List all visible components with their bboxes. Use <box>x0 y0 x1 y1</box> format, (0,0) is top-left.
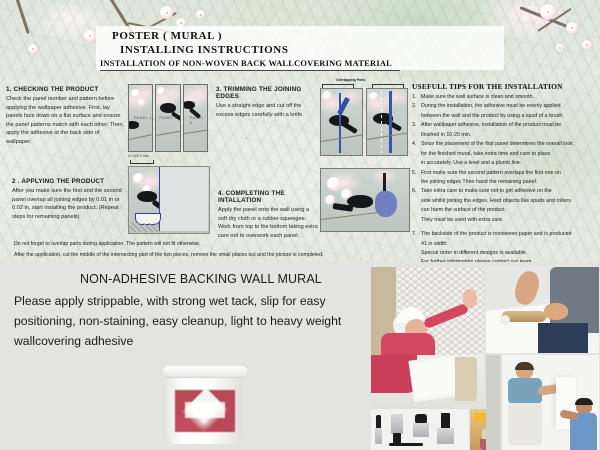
tip-item-cont: Special order in different designs is av… <box>412 250 598 258</box>
instruction-sheet: POSTER ( MURAL ) INSTALLING INSTRUCTIONS… <box>0 0 600 450</box>
photo-woman-applying <box>371 267 484 362</box>
overlap-callout: Overlapping Parts <box>320 78 408 88</box>
tip-item: 7.The backside of the product is nonwove… <box>412 231 598 239</box>
step-4-heading: 4. COMPLETING THE INTALLATION <box>218 190 318 204</box>
tip-item-cont: in accurately. Use a level and a plumb l… <box>412 160 598 168</box>
tip-item-cont: finished in 10-20 min. <box>412 132 598 140</box>
note-trimming: After the application, cut the middle of… <box>14 252 323 258</box>
overlap-measurement: 0.1 in/0.2 mm <box>128 155 208 164</box>
photo-tools <box>371 409 469 450</box>
tip-item-cont: between the wall and the product by usin… <box>412 113 598 121</box>
photo-wallpaper-roll <box>371 355 484 413</box>
overlap-diagram <box>128 166 210 234</box>
overlap-label: Overlapping Parts <box>336 78 365 82</box>
step-3-body: Use a straight edge and cut off the exce… <box>216 102 316 119</box>
tip-item: 5.First make sure the second pattern ove… <box>412 170 598 178</box>
adhesive-bucket-image <box>163 366 247 444</box>
photo-man-and-boy <box>486 355 599 450</box>
tip-item-cont: They must be used with extra care. <box>412 217 598 225</box>
panel-row-diagram: PANEL 1 PANEL 2 PANEL 3 <box>128 84 208 152</box>
trimming-photos <box>320 88 408 156</box>
measurement-label: 0.1 in/0.2 mm <box>128 154 149 158</box>
step-1: 1. CHECKING THE PRODUCT Check the panel … <box>6 86 126 146</box>
photo-roller-paste <box>486 267 599 353</box>
tip-item: 6.Take extra care to make sure not to ge… <box>412 188 598 196</box>
panel-2: PANEL 2 <box>155 84 180 152</box>
step-2-heading: 2 . APPLYING THE PRODUCT <box>12 178 130 185</box>
page-title: POSTER ( MURAL ) <box>112 30 222 42</box>
page-subtitle: INSTALLING INSTRUCTIONS <box>120 44 289 56</box>
trim-photo-knife <box>320 88 363 156</box>
tip-item-cont: the joining edges Then hand the remainin… <box>412 179 598 187</box>
tip-item: 3.After wallpaper adhesive, installation… <box>412 122 598 130</box>
note-overlap: Do not forget to overlap parts during ap… <box>14 241 200 247</box>
panel-2-label: PANEL 2 <box>159 115 177 120</box>
tip-item-cont: can harm the surface of the product. <box>412 207 598 215</box>
trim-photo-straightedge <box>366 88 409 156</box>
step-2: 2 . APPLYING THE PRODUCT After you make … <box>12 178 130 221</box>
tip-item: 4.Since the placement of the first panel… <box>412 141 598 149</box>
panel-1-label: PANEL 1 <box>134 115 152 120</box>
step-1-heading: 1. CHECKING THE PRODUCT <box>6 86 126 93</box>
measurement-bracket <box>130 160 154 164</box>
tip-item-cont: side whilst joining the edges. Hard obje… <box>412 198 598 206</box>
step-3-heading: 3. TRIMMING THE JOINING EDGES <box>216 86 316 100</box>
promo-title: NON-ADHESIVE BACKING WALL MURAL <box>80 272 322 286</box>
step-4: 4. COMPLETING THE INTALLATION Apply the … <box>218 190 318 240</box>
step-4-body: Apply the panel onto the wall using a so… <box>218 206 318 240</box>
step-2-body: After you make sure the first and the se… <box>12 187 130 221</box>
step-3: 3. TRIMMING THE JOINING EDGES Use a stra… <box>216 86 316 119</box>
panel-3-label: PANEL 3 <box>190 115 207 125</box>
tips-section: USEFULL TIPS FOR THE INSTALLATION 1.Make… <box>412 82 598 269</box>
tip-item: 1.Make sure the wall surface is clean an… <box>412 94 598 102</box>
promo-body: Please apply strippable, with strong wet… <box>14 292 364 351</box>
completion-photo <box>320 168 410 232</box>
tips-heading: USEFULL TIPS FOR THE INSTALLATION <box>412 82 598 91</box>
tip-item-cont: for the finished mural, take extra time … <box>412 151 598 159</box>
tip-item-cont: 41 in width. <box>412 241 598 249</box>
step-1-body: Check the panel number and pattern befor… <box>6 95 126 146</box>
panel-1: PANEL 1 <box>128 84 153 152</box>
tip-item: 2.During the installation, the adhesive … <box>412 103 598 111</box>
panel-3: PANEL 3 <box>183 84 208 152</box>
material-subtitle: INSTALLATION OF NON-WOVEN BACK WALLCOVER… <box>100 59 400 71</box>
